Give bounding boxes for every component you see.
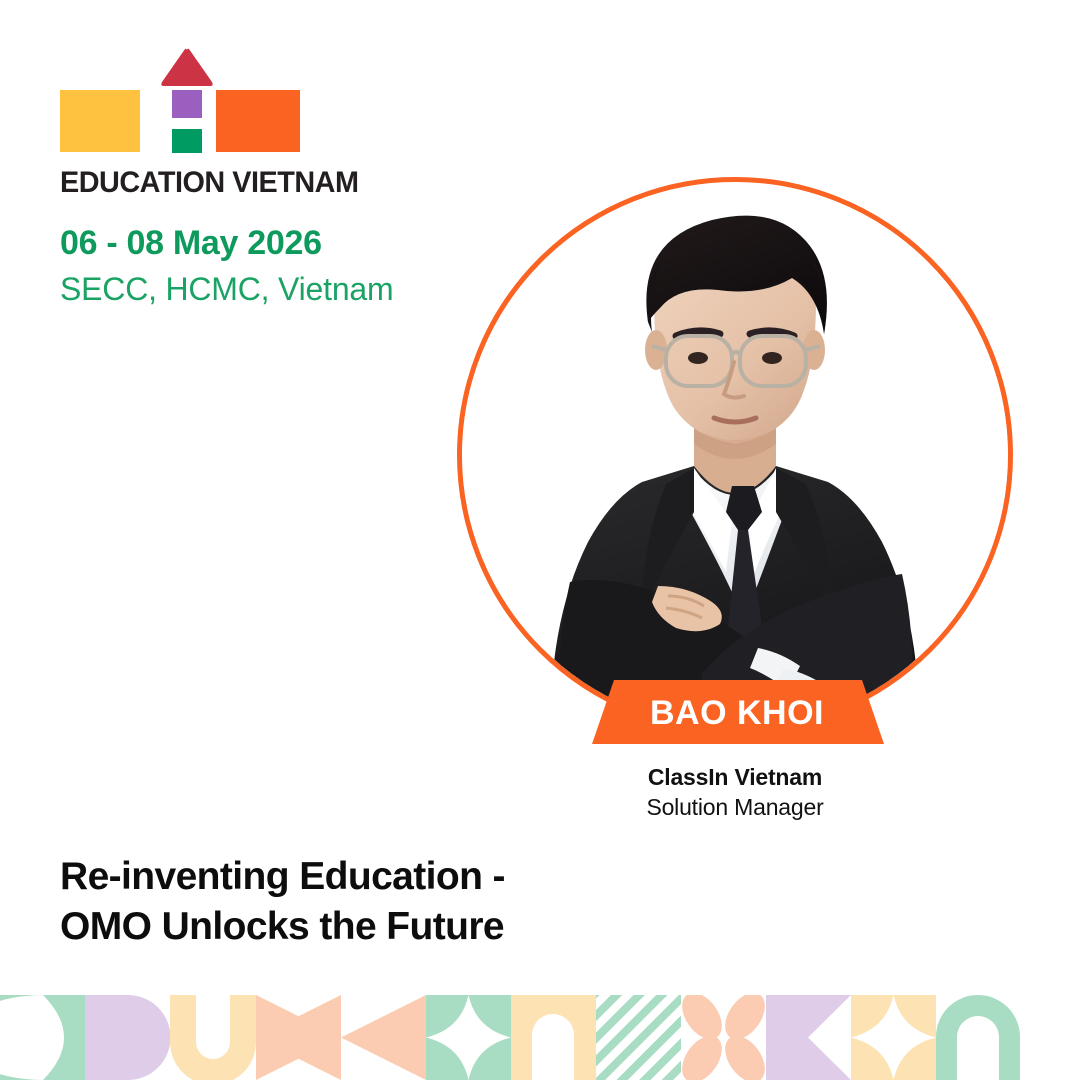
event-speaker-card: EDUCATION VIETNAM 06 - 08 May 2026 SECC,…	[0, 0, 1080, 1080]
speaker-name-banner: BAO KHOI	[598, 680, 876, 742]
speaker-credentials: ClassIn Vietnam Solution Manager	[457, 762, 1013, 823]
event-details: 06 - 08 May 2026 SECC, HCMC, Vietnam	[60, 222, 393, 310]
speaker-name: BAO KHOI	[598, 682, 876, 744]
brand-logo: EDUCATION VIETNAM	[60, 48, 380, 200]
speaker-company: ClassIn Vietnam	[457, 762, 1013, 792]
edumix-geometric-pattern-strip-icon	[0, 995, 1080, 1080]
speaker-photo	[462, 182, 1008, 728]
session-title: Re-inventing Education - OMO Unlocks the…	[60, 852, 680, 952]
speaker-role: Solution Manager	[457, 792, 1013, 822]
brand-wordmark: EDUCATION VIETNAM	[60, 166, 367, 200]
speaker-portrait-illustration	[462, 182, 1008, 728]
event-venue: SECC, HCMC, Vietnam	[60, 269, 393, 311]
speaker-photo-frame	[457, 177, 1013, 733]
session-title-line-2: OMO Unlocks the Future	[60, 902, 680, 952]
event-date: 06 - 08 May 2026	[60, 222, 393, 265]
education-vietnam-house-logo-icon	[60, 48, 300, 158]
logo-shapes-svg	[60, 48, 300, 158]
session-title-line-1: Re-inventing Education -	[60, 852, 680, 902]
speaker-photo-ring	[457, 177, 1013, 733]
